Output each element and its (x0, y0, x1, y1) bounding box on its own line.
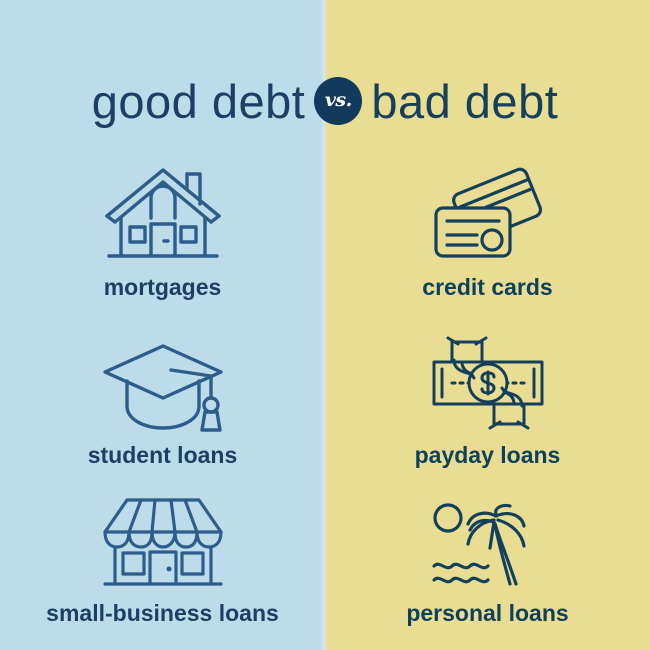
title-bad-debt: bad debt (371, 78, 558, 125)
item-label: credit cards (422, 276, 552, 299)
credit-cards-icon (424, 160, 552, 268)
palm-tree-icon (424, 490, 552, 594)
infographic-canvas: good debt vs. bad debt (0, 0, 650, 650)
graduation-cap-icon (99, 328, 227, 436)
vs-badge: vs. (314, 77, 362, 125)
item-label: mortgages (104, 276, 222, 299)
item-payday-loans: payday loans (325, 328, 650, 491)
item-personal-loans: personal loans (325, 490, 650, 650)
item-label: personal loans (406, 602, 568, 625)
item-label: student loans (88, 444, 238, 467)
item-label: small-business loans (46, 602, 279, 625)
house-icon (99, 160, 227, 268)
item-mortgages: mortgages (0, 160, 325, 323)
cash-in-hands-icon (424, 328, 552, 436)
item-credit-cards: credit cards (325, 160, 650, 323)
page-title: good debt vs. bad debt (0, 72, 650, 130)
comparison-grid: mortgages credit cards (0, 160, 650, 650)
item-label: payday loans (415, 444, 561, 467)
item-small-business-loans: small-business loans (0, 490, 325, 650)
storefront-icon (97, 490, 229, 594)
item-student-loans: student loans (0, 328, 325, 491)
title-good-debt: good debt (92, 78, 306, 125)
vs-badge-label: vs. (325, 91, 352, 110)
